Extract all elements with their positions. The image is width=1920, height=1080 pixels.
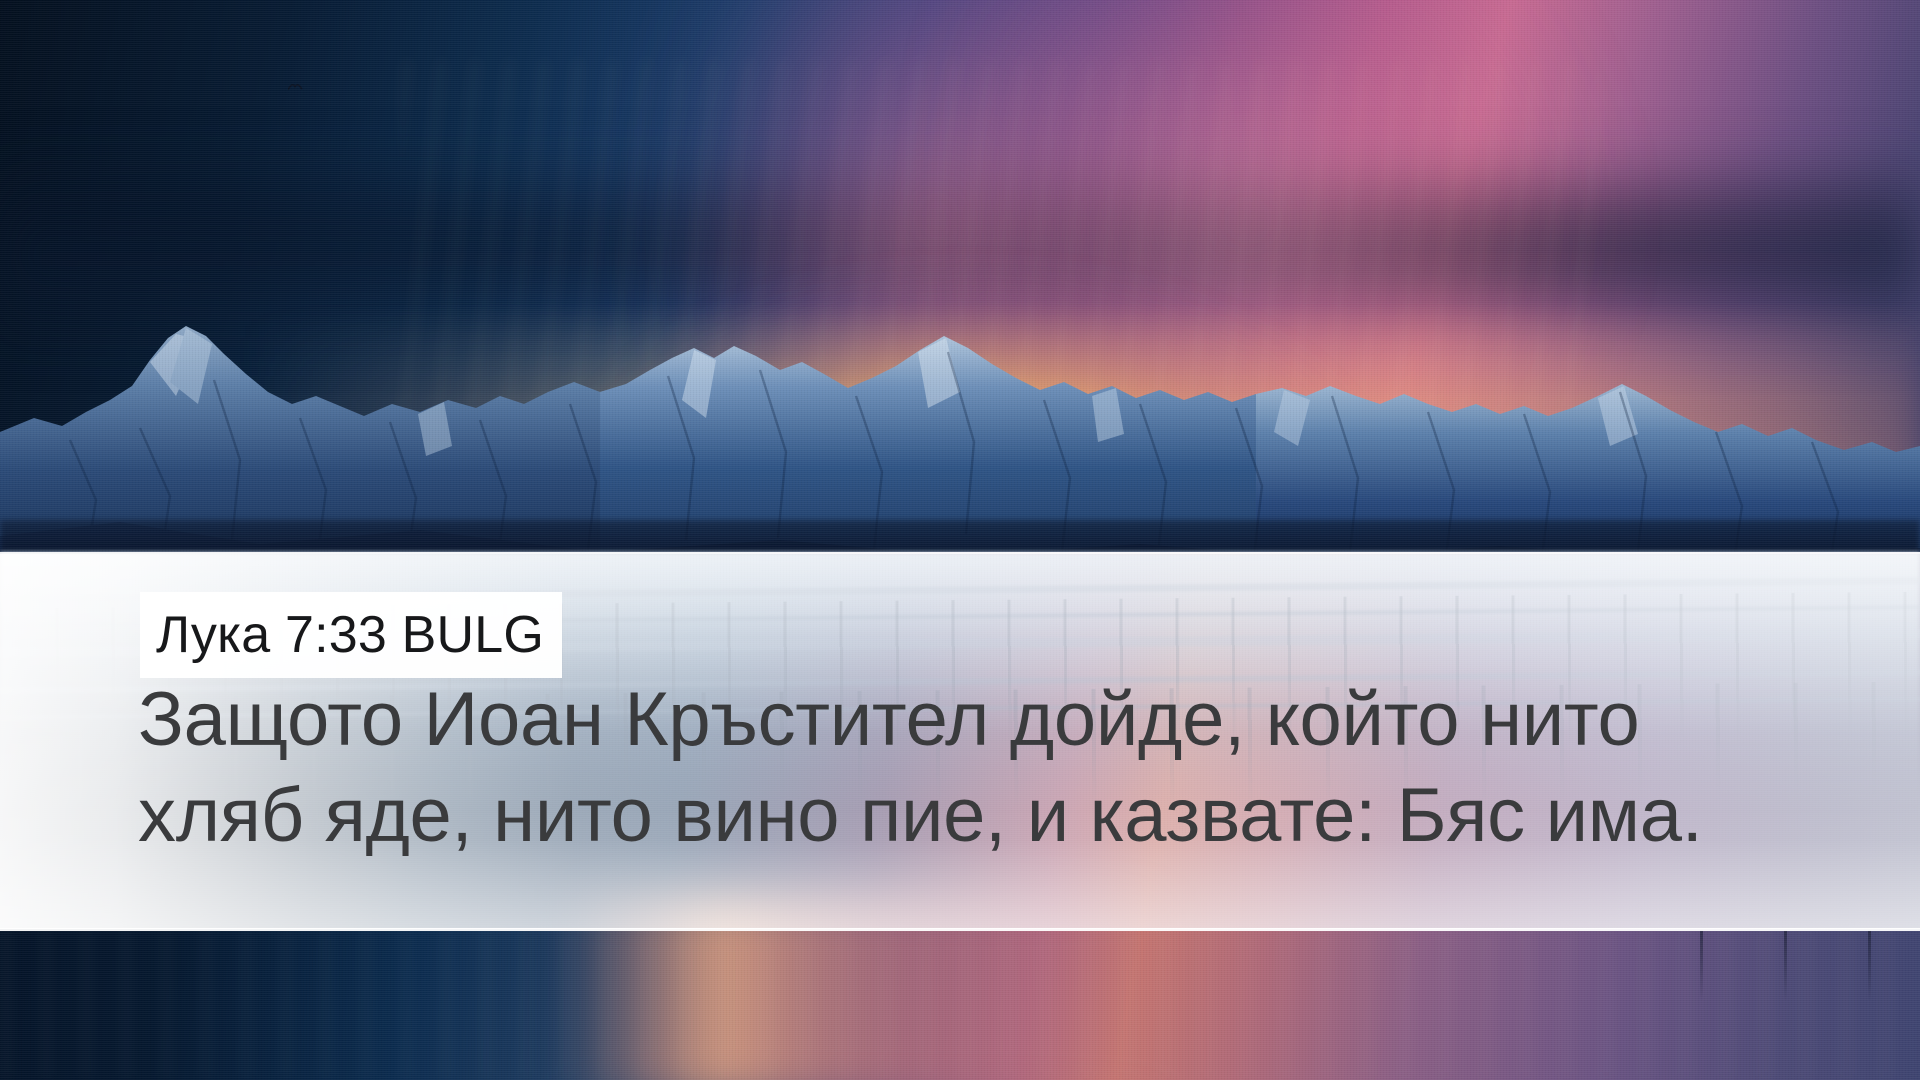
verse-reference-text: Лука 7:33 BULG <box>156 609 544 661</box>
verse-reference-chip: Лука 7:33 BULG <box>140 592 562 678</box>
verse-line-1: Защото Иоан Кръстител дойде, който нито <box>138 672 1858 768</box>
verse-image-canvas: Лука 7:33 BULG Защото Иоан Кръстител дой… <box>0 0 1920 1080</box>
verse-text-block: Защото Иоан Кръстител дойде, който нито … <box>138 672 1858 864</box>
post-reflections <box>1700 930 1920 1000</box>
verse-line-2: хляб яде, нито вино пие, и казвате: Бяс … <box>138 768 1858 864</box>
water-streaks <box>0 930 1920 1080</box>
panel-top-rule <box>0 552 1920 554</box>
bird-icon <box>288 83 304 92</box>
panel-bottom-rule <box>0 928 1920 931</box>
